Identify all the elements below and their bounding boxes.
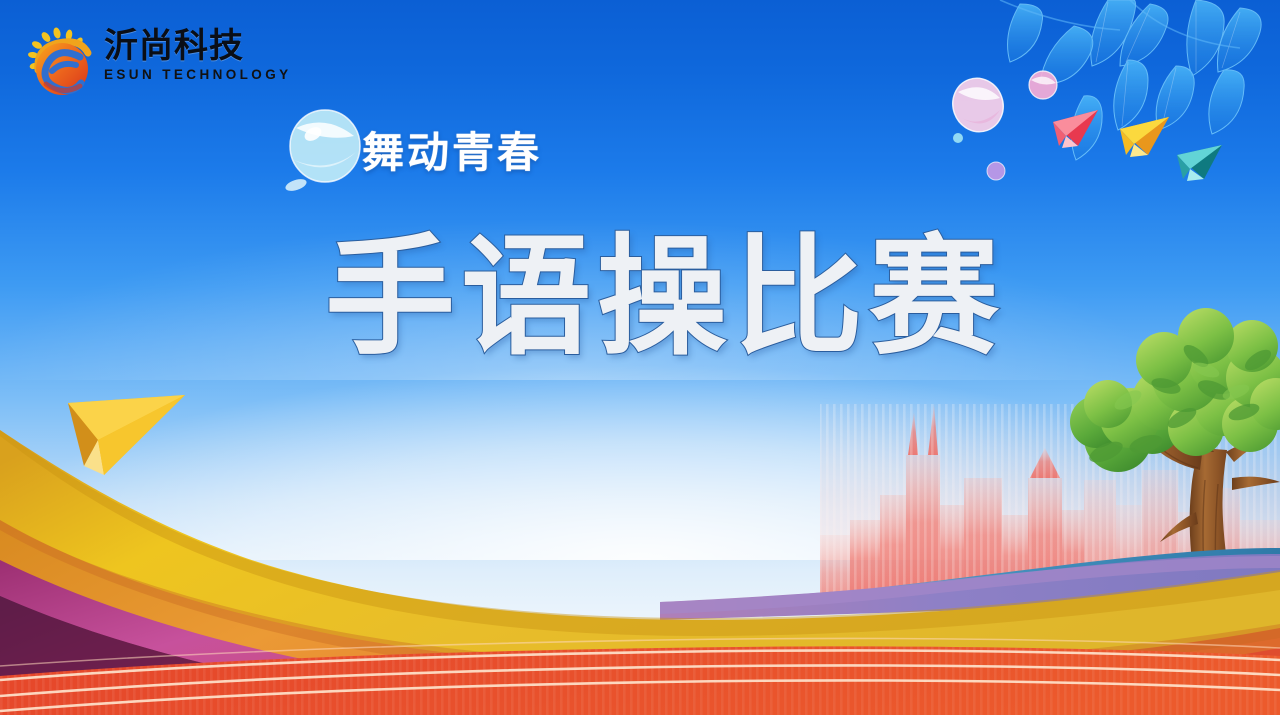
paper-plane-teal (1177, 145, 1222, 181)
tree-foliage (1070, 308, 1280, 472)
running-track (0, 638, 1280, 715)
poster-title: 手语操比赛 (325, 222, 1005, 372)
logo-company-name-en: ESUN TECHNOLOGY (104, 67, 292, 83)
logo-company-name-cn: 沂尚科技 (104, 26, 292, 66)
poster-subtitle: 舞动青春 (362, 128, 542, 178)
wave-orange (0, 520, 1280, 715)
poster-canvas: 沂尚科技 ESUN TECHNOLOGY 舞动青春 手语操比赛 (0, 0, 1280, 715)
leaves-decoration (1000, 0, 1261, 160)
bubble-small-cyan (284, 177, 308, 193)
bubble-violet-small (987, 162, 1005, 180)
bubble-pink-small (1029, 71, 1057, 99)
city-skyline (820, 404, 1280, 605)
wave-purple (660, 554, 1280, 620)
bubble-pink-large (945, 71, 1010, 139)
tree-trunk (1120, 408, 1280, 592)
wave-magenta (0, 560, 1280, 715)
bubble-dot-cyan (953, 133, 963, 143)
wave-plum (0, 596, 860, 715)
paper-plane-yellow (1120, 117, 1169, 157)
esun-logo-mark (22, 26, 100, 100)
wave-blue (760, 548, 1280, 600)
paper-plane-pink (1053, 110, 1098, 148)
wave-red (420, 648, 1280, 715)
company-logo[interactable]: 沂尚科技 ESUN TECHNOLOGY (22, 22, 322, 104)
tree (1070, 308, 1280, 592)
wave-yellow (0, 430, 1280, 715)
paper-plane-gold (68, 395, 185, 475)
bubble-cyan-large (290, 110, 360, 182)
track-lane-lines (0, 650, 1280, 711)
